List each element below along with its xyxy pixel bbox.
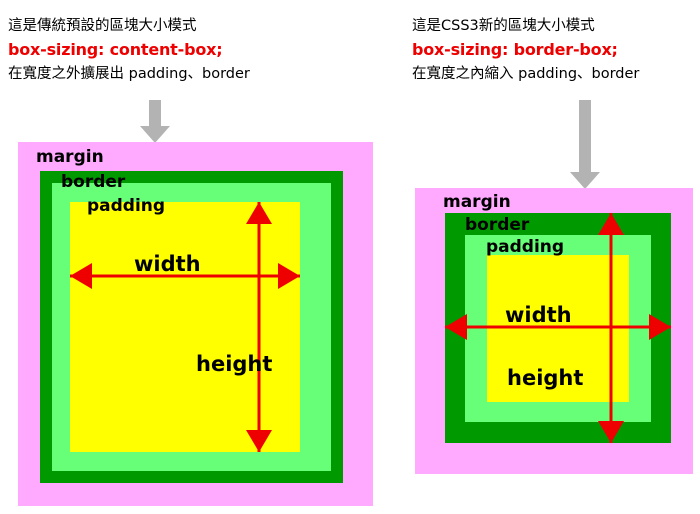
width-label: width: [134, 254, 201, 275]
border-label: border: [465, 217, 529, 234]
height-label: height: [507, 368, 583, 389]
left-caption-block: 這是傳統預設的區塊大小模式 box-sizing: content-box; 在…: [8, 14, 250, 86]
height-measure-arrow: [598, 213, 624, 443]
arrow-head: [570, 172, 600, 189]
height-measure-arrow: [246, 202, 272, 452]
border-box-diagram: margin border padding width height: [415, 188, 693, 474]
left-caption-line-1: 這是傳統預設的區塊大小模式: [8, 14, 250, 38]
right-caption-block: 這是CSS3新的區塊大小模式 box-sizing: border-box; 在…: [412, 14, 639, 86]
padding-label: padding: [87, 198, 165, 215]
margin-label: margin: [443, 194, 511, 211]
arrow-head-left: [445, 314, 467, 340]
arrow-head-up: [246, 202, 272, 224]
down-arrow-icon: [570, 100, 600, 189]
right-caption-line-3: 在寬度之內縮入 padding、border: [412, 62, 639, 86]
width-label: width: [505, 305, 572, 326]
right-caption-code: box-sizing: border-box;: [412, 38, 639, 62]
arrow-head-right: [649, 314, 671, 340]
arrow-line: [610, 213, 613, 443]
padding-label: padding: [486, 239, 564, 256]
down-arrow-icon: [140, 100, 170, 143]
arrow-head-up: [598, 213, 624, 235]
left-caption-line-3: 在寬度之外擴展出 padding、border: [8, 62, 250, 86]
arrow-head-left: [70, 263, 92, 289]
margin-label: margin: [36, 149, 104, 166]
diagram-canvas: 這是傳統預設的區塊大小模式 box-sizing: content-box; 在…: [0, 0, 700, 514]
arrow-line: [258, 202, 261, 452]
height-label: height: [196, 354, 272, 375]
arrow-head-down: [246, 430, 272, 452]
right-caption-line-1: 這是CSS3新的區塊大小模式: [412, 14, 639, 38]
arrow-shaft: [149, 100, 161, 126]
border-label: border: [61, 174, 125, 191]
arrow-shaft: [579, 100, 591, 172]
arrow-head: [140, 126, 170, 143]
left-caption-code: box-sizing: content-box;: [8, 38, 250, 62]
content-box-diagram: margin border padding width height: [18, 142, 373, 506]
arrow-head-down: [598, 421, 624, 443]
arrow-head-right: [278, 263, 300, 289]
